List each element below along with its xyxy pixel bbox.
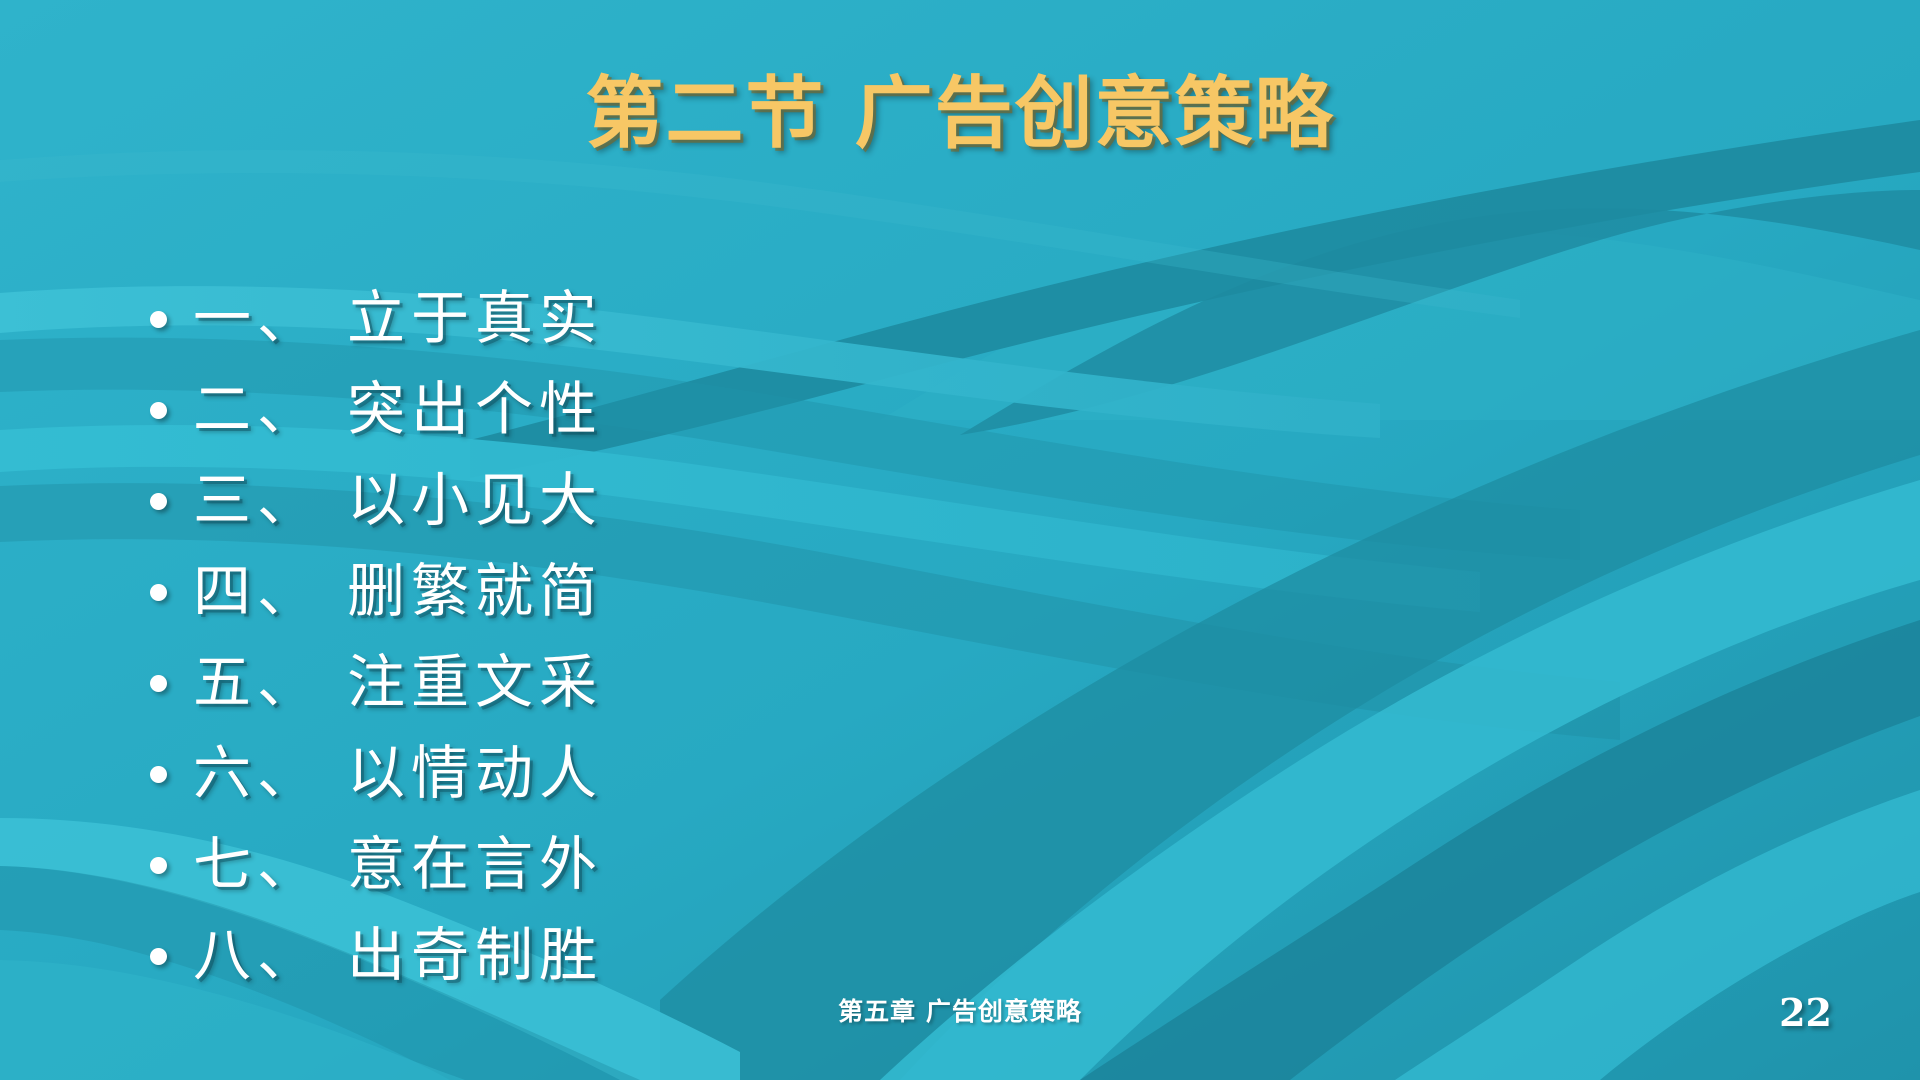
page-number: 22: [1779, 990, 1832, 1035]
slide-title: 第二节 广告创意策略: [0, 74, 1920, 156]
bullet-list: 一、立于真实 二、突出个性 三、以小见大 四、删繁就简 五、注重文采: [150, 272, 970, 1000]
footer-chapter-note: 第五章 广告创意策略: [0, 992, 1920, 1028]
list-item-label: 二、突出个性: [193, 380, 603, 438]
list-item-index: 三、: [193, 466, 321, 534]
list-item-text: 突出个性: [347, 375, 603, 443]
list-item-index: 七、: [193, 830, 321, 898]
list-item-index: 五、: [193, 648, 321, 716]
list-item-index: 四、: [193, 557, 321, 625]
list-item[interactable]: 六、以情动人: [150, 727, 970, 818]
bullet-dot-icon: [150, 857, 167, 874]
bullet-dot-icon: [150, 584, 167, 601]
list-item-label: 五、注重文采: [193, 653, 603, 711]
list-item[interactable]: 五、注重文采: [150, 636, 970, 727]
bullet-dot-icon: [150, 493, 167, 510]
list-item-text: 以情动人: [347, 739, 603, 807]
list-item[interactable]: 八、出奇制胜: [150, 909, 970, 1000]
list-item-text: 以小见大: [347, 466, 603, 534]
list-item-text: 删繁就简: [347, 557, 603, 625]
list-item-text: 注重文采: [347, 648, 603, 716]
list-item-index: 二、: [193, 375, 321, 443]
slide-canvas: 第二节 广告创意策略 一、立于真实 二、突出个性 三、以小见大 四、删繁就简: [0, 0, 1920, 1080]
list-item-label: 七、意在言外: [193, 835, 603, 893]
bullet-dot-icon: [150, 675, 167, 692]
bullet-dot-icon: [150, 402, 167, 419]
list-item-index: 一、: [193, 284, 321, 352]
list-item-label: 六、以情动人: [193, 744, 603, 802]
list-item-text: 出奇制胜: [347, 921, 603, 989]
list-item[interactable]: 七、意在言外: [150, 818, 970, 909]
list-item-label: 四、删繁就简: [193, 562, 603, 620]
list-item[interactable]: 二、突出个性: [150, 363, 970, 454]
list-item-index: 六、: [193, 739, 321, 807]
list-item-text: 意在言外: [347, 830, 603, 898]
list-item-label: 一、立于真实: [193, 289, 603, 347]
list-item-text: 立于真实: [347, 284, 603, 352]
list-item[interactable]: 四、删繁就简: [150, 545, 970, 636]
list-item-label: 三、以小见大: [193, 471, 603, 529]
list-item[interactable]: 一、立于真实: [150, 272, 970, 363]
bullet-dot-icon: [150, 766, 167, 783]
list-item-label: 八、出奇制胜: [193, 926, 603, 984]
bullet-dot-icon: [150, 311, 167, 328]
list-item-index: 八、: [193, 921, 321, 989]
list-item[interactable]: 三、以小见大: [150, 454, 970, 545]
bullet-dot-icon: [150, 948, 167, 965]
